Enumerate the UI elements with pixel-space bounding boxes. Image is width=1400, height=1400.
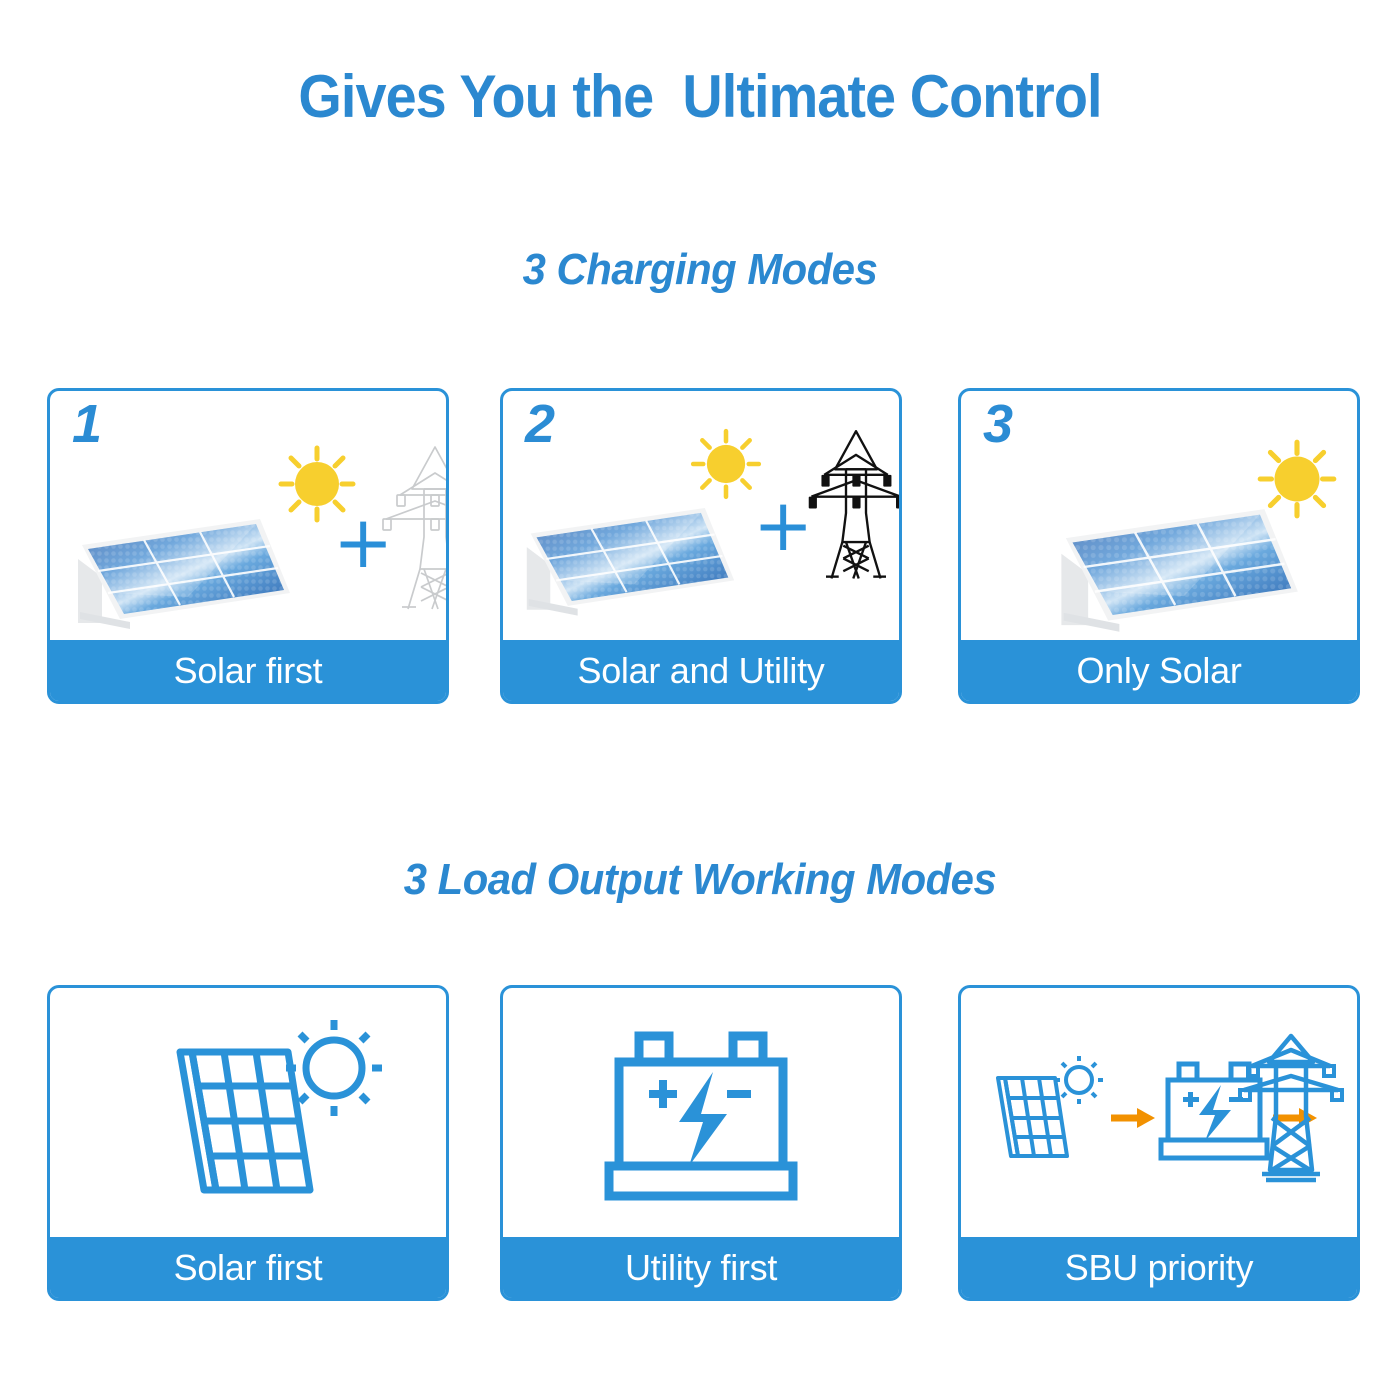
- plus-icon: +: [753, 489, 813, 561]
- power-pylon-icon-inactive: [380, 441, 446, 611]
- card-charging-only-solar[interactable]: 3: [958, 388, 1360, 704]
- scene-battery: [503, 988, 899, 1240]
- card-footer-label: Solar first: [50, 640, 446, 701]
- card-charging-solar-first[interactable]: 1: [47, 388, 449, 704]
- card-body: 3: [961, 391, 1357, 643]
- card-body: 2: [503, 391, 899, 643]
- section-title-load-output-modes: 3 Load Output Working Modes: [35, 855, 1365, 905]
- card-body: [50, 988, 446, 1240]
- charging-modes-row: 1: [0, 388, 1400, 710]
- card-footer-label: Utility first: [503, 1237, 899, 1298]
- card-load-utility-first[interactable]: Utility first: [500, 985, 902, 1301]
- card-footer-label: SBU priority: [961, 1237, 1357, 1298]
- solar-panel-photo-icon: [68, 501, 298, 631]
- solar-panel-photo-icon: [517, 489, 742, 619]
- solar-panel-line-icon: [981, 1056, 1109, 1174]
- card-footer-label: Solar and Utility: [503, 640, 899, 701]
- card-body: 1: [50, 391, 446, 643]
- plus-terminal-icon: [649, 1080, 677, 1108]
- minus-terminal-icon: [727, 1090, 751, 1098]
- load-output-modes-row: Solar first: [0, 985, 1400, 1307]
- card-load-solar-first[interactable]: Solar first: [47, 985, 449, 1301]
- scene-only-solar: [961, 391, 1357, 643]
- card-footer-label: Solar first: [50, 1237, 446, 1298]
- power-pylon-icon-active: [806, 413, 899, 593]
- arrow-right-icon: [1111, 1106, 1155, 1130]
- section-title-charging-modes: 3 Charging Modes: [35, 245, 1365, 295]
- scene-sbu-flow: [961, 988, 1357, 1240]
- card-load-sbu-priority[interactable]: SBU priority: [958, 985, 1360, 1301]
- lightning-bolt-icon: [679, 1072, 727, 1166]
- battery-icon: [605, 1028, 801, 1204]
- scene-solar-plus-grid-inactive: +: [50, 391, 446, 643]
- solar-panel-line-icon: [120, 1006, 380, 1226]
- card-footer-label: Only Solar: [961, 640, 1357, 701]
- card-body: [961, 988, 1357, 1240]
- card-charging-solar-and-utility[interactable]: 2: [500, 388, 902, 704]
- page-title: Gives You the Ultimate Control: [49, 62, 1351, 131]
- scene-solar-line: [50, 988, 446, 1240]
- scene-solar-plus-grid-active: +: [503, 391, 899, 643]
- card-body: [503, 988, 899, 1240]
- solar-panel-photo-icon: [1046, 489, 1311, 634]
- power-pylon-line-icon: [1236, 1028, 1346, 1188]
